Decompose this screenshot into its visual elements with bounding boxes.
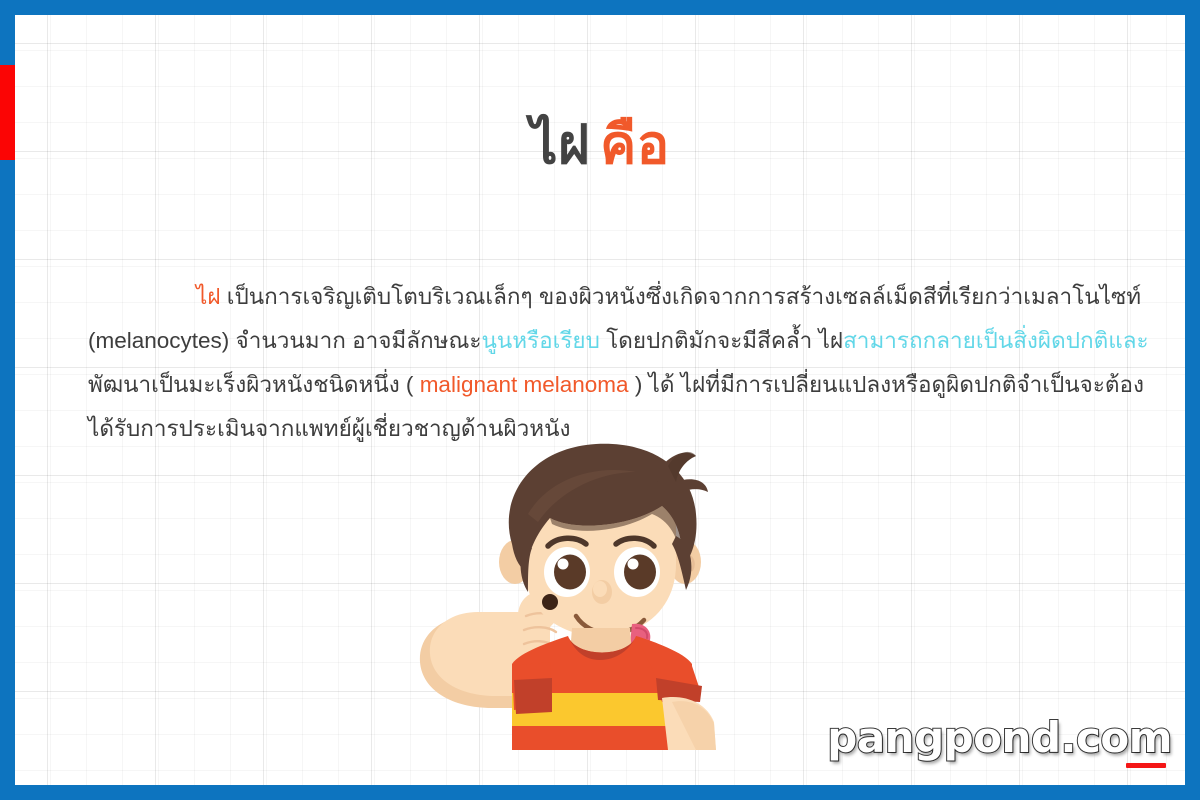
cartoon-boy-illustration xyxy=(400,440,800,750)
frame-border-top xyxy=(0,0,1200,15)
title-dark-part: ไฝ xyxy=(530,115,590,175)
body-segment-highlight-mole: ไฝ xyxy=(196,284,221,309)
body-segment-highlight-melanoma: malignant melanoma xyxy=(420,372,629,397)
body-segment-highlight-texture: นูนหรือเรียบ xyxy=(481,328,599,353)
slide-canvas: ไฝคือ ไฝ เป็นการเจริญเติบโตบริเวณเล็กๆ ข… xyxy=(0,0,1200,800)
watermark-underline xyxy=(1126,763,1166,768)
watermark-logo: pangpond.com xyxy=(827,717,1172,768)
body-paragraph: ไฝ เป็นการเจริญเติบโตบริเวณเล็กๆ ของผิวห… xyxy=(88,275,1150,451)
body-segment-3: พัฒนาเป็นมะเร็งผิวหนังชนิดหนึ่ง ( xyxy=(88,372,420,397)
frame-border-bottom xyxy=(0,785,1200,800)
watermark-text: pangpond.com xyxy=(827,717,1172,759)
title-accent-part: คือ xyxy=(600,115,670,175)
shirt xyxy=(512,636,716,750)
body-segment-2: โดยปกติมักจะมีสีคล้ำ ไฝ xyxy=(600,328,843,353)
eye-left xyxy=(544,547,590,597)
page-title: ไฝคือ xyxy=(0,112,1200,180)
mole-spot xyxy=(542,594,558,610)
body-segment-highlight-abnormal: สามารถกลายเป็นสิ่งผิดปกติและ xyxy=(843,328,1149,353)
eye-right xyxy=(614,547,660,597)
